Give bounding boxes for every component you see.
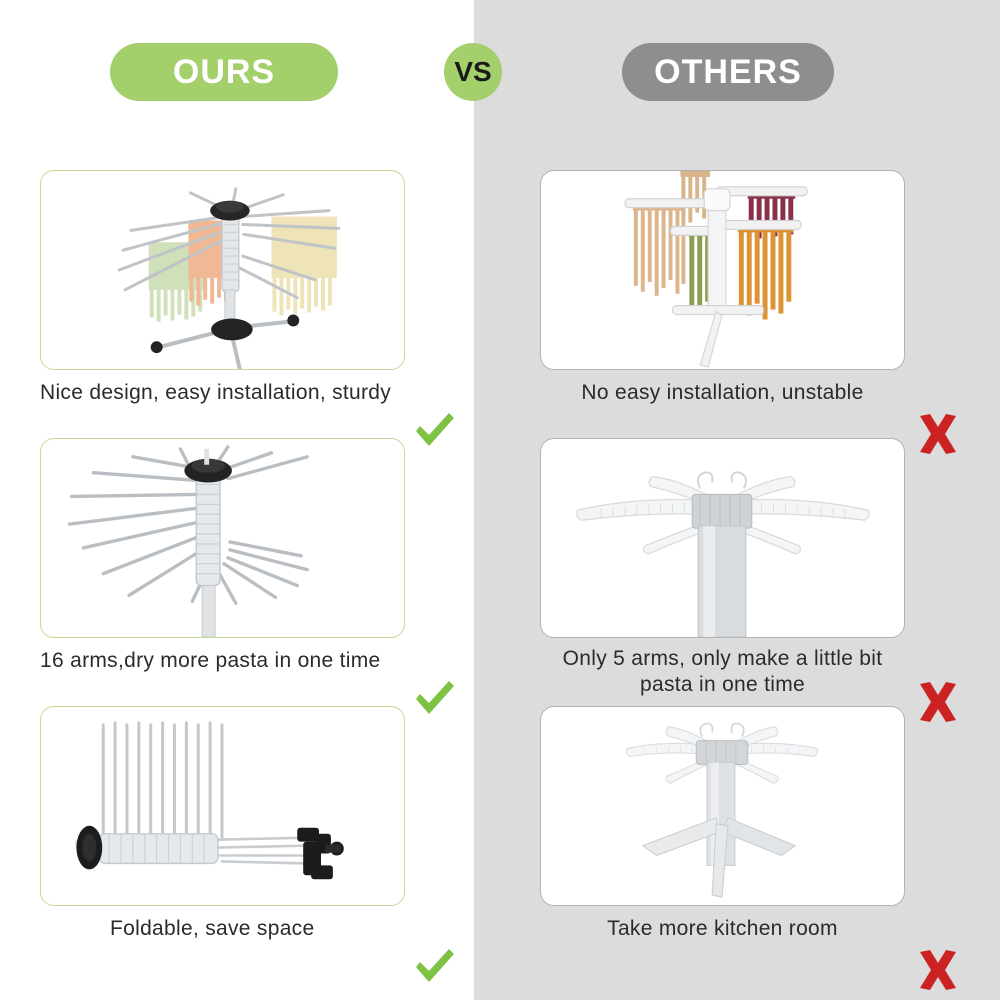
- vs-badge-label: VS: [454, 56, 491, 88]
- ours-product-image-2: [41, 439, 404, 637]
- others-product-image-3: [541, 707, 904, 905]
- others-card-3: [540, 706, 905, 906]
- ours-badge-label: OURS: [173, 53, 275, 92]
- check-icon: [410, 406, 458, 454]
- others-caption-2: Only 5 arms, only make a little bit past…: [540, 646, 905, 698]
- others-badge: OTHERS: [622, 43, 834, 101]
- others-badge-label: OTHERS: [654, 53, 802, 92]
- others-product-image-1: [541, 171, 904, 369]
- ours-badge: OURS: [110, 43, 338, 101]
- others-caption-3: Take more kitchen room: [540, 916, 905, 942]
- check-icon: [410, 942, 458, 990]
- others-product-image-2: [541, 439, 904, 637]
- others-caption-1: No easy installation, unstable: [540, 380, 905, 406]
- comparison-infographic: OURS VS OTHERS: [0, 0, 1000, 1000]
- x-icon: [914, 678, 962, 726]
- check-icon: [410, 674, 458, 722]
- ours-caption-1: Nice design, easy installation, sturdy: [40, 380, 440, 406]
- ours-caption-3: Foldable, save space: [110, 916, 510, 942]
- others-card-1: [540, 170, 905, 370]
- others-card-2: [540, 438, 905, 638]
- vs-badge: VS: [444, 43, 502, 101]
- ours-product-image-3: [41, 707, 404, 905]
- ours-caption-2: 16 arms,dry more pasta in one time: [40, 648, 440, 674]
- ours-card-3: [40, 706, 405, 906]
- x-icon: [914, 410, 962, 458]
- ours-card-2: [40, 438, 405, 638]
- ours-product-image-1: [41, 171, 404, 369]
- x-icon: [914, 946, 962, 994]
- ours-card-1: [40, 170, 405, 370]
